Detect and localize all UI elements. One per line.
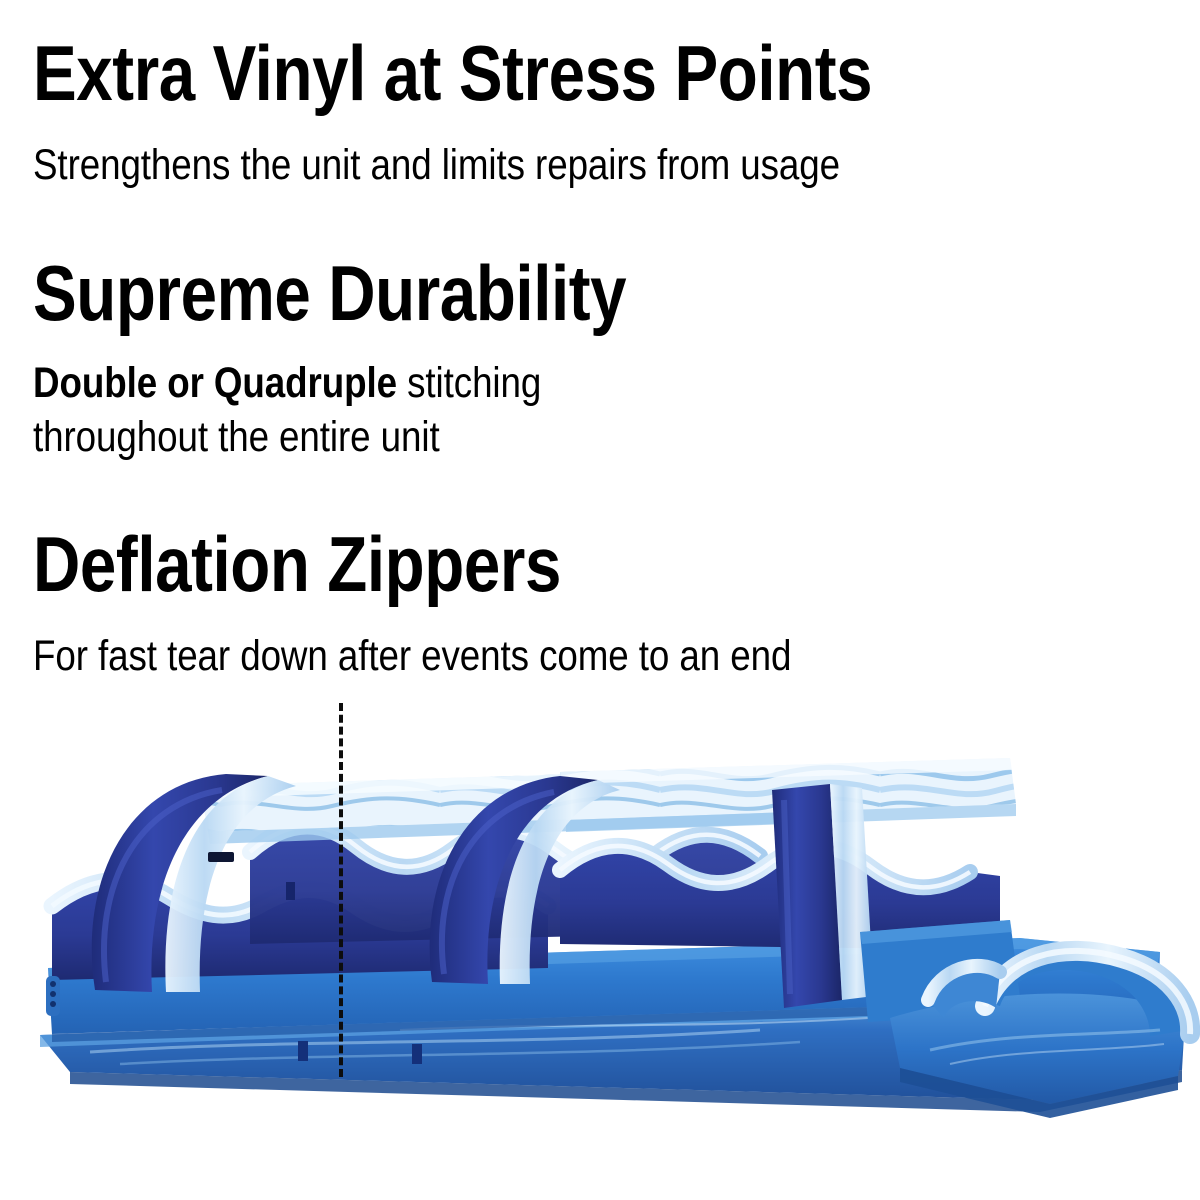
feature-subtext-supreme-durability-line1: Double or Quadruple stitching <box>33 356 1008 410</box>
feature-heading-deflation-zippers: Deflation Zippers <box>33 525 991 603</box>
sprinkler-tab <box>208 852 234 862</box>
dashed-seam-marker <box>339 703 343 1077</box>
top-spray-bar <box>200 758 1016 844</box>
inflatable-illustration <box>0 700 1200 1200</box>
feature-deflation-zippers: Deflation Zippers For fast tear down aft… <box>33 525 1173 683</box>
feature-subtext-extra-vinyl: Strengthens the unit and limits repairs … <box>33 138 1008 192</box>
feature-supreme-durability: Supreme Durability Double or Quadruple s… <box>33 254 1173 464</box>
feature-extra-vinyl: Extra Vinyl at Stress Points Strengthens… <box>33 34 1173 192</box>
feature-subtext-supreme-durability-line2: throughout the entire unit <box>33 410 1008 464</box>
feature-subtext-deflation-zippers: For fast tear down after events come to … <box>33 629 1008 683</box>
arch-right <box>772 784 874 1008</box>
front-edge-highlights <box>46 976 60 1016</box>
feature-subtext-emphasis: Double or Quadruple <box>33 359 397 407</box>
feature-subtext-rest: stitching <box>397 359 541 407</box>
feature-list: Extra Vinyl at Stress Points Strengthens… <box>33 34 1173 683</box>
product-image-inflatable-slide <box>0 700 1200 1200</box>
feature-callout-page: Extra Vinyl at Stress Points Strengthens… <box>0 0 1200 1200</box>
feature-heading-extra-vinyl: Extra Vinyl at Stress Points <box>33 34 991 112</box>
feature-heading-supreme-durability: Supreme Durability <box>33 254 991 332</box>
